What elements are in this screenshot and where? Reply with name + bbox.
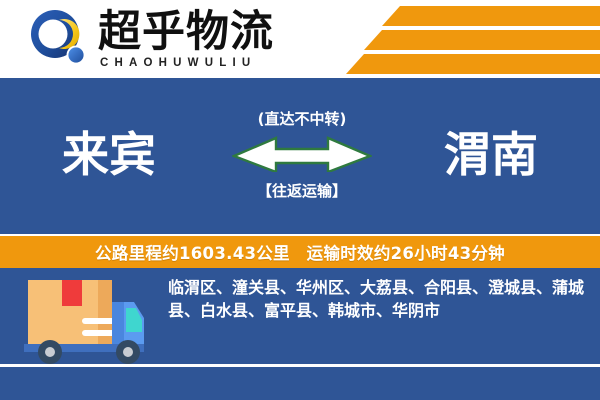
brand-name-cn: 超乎物流	[98, 6, 274, 58]
banner-header: 超乎物流 CHAOHUWULIU	[0, 0, 600, 78]
distance-duration-text: 公路里程约1603.43公里 运输时效约26小时43分钟	[95, 240, 505, 264]
distance-duration-bar: 公路里程约1603.43公里 运输时效约26小时43分钟	[0, 236, 600, 268]
route-panel: 来宾 (直达不中转) 【往返运输】 渭南	[0, 78, 600, 234]
origin-city: 来宾	[62, 128, 156, 184]
direct-shipping-label: (直达不中转)	[232, 108, 372, 129]
destination-city: 渭南	[444, 128, 538, 184]
bidirectional-arrow-icon	[232, 132, 372, 172]
delivery-truck-icon	[20, 274, 148, 372]
circle-crescent-logo-icon	[28, 8, 90, 70]
logistics-route-banner: 超乎物流 CHAOHUWULIU 来宾 (直达不中转) 【往返运输】 渭南 公路…	[0, 0, 600, 400]
round-trip-label: 【往返运输】	[232, 180, 372, 201]
route-arrow-group: (直达不中转) 【往返运输】	[232, 108, 372, 212]
orange-stripes-decoration-icon	[338, 0, 600, 78]
covered-districts-list: 临渭区、潼关县、华州区、大荔县、合阳县、澄城县、蒲城县、白水县、富平县、韩城市、…	[168, 276, 586, 322]
brand-name-en: CHAOHUWULIU	[100, 57, 256, 69]
